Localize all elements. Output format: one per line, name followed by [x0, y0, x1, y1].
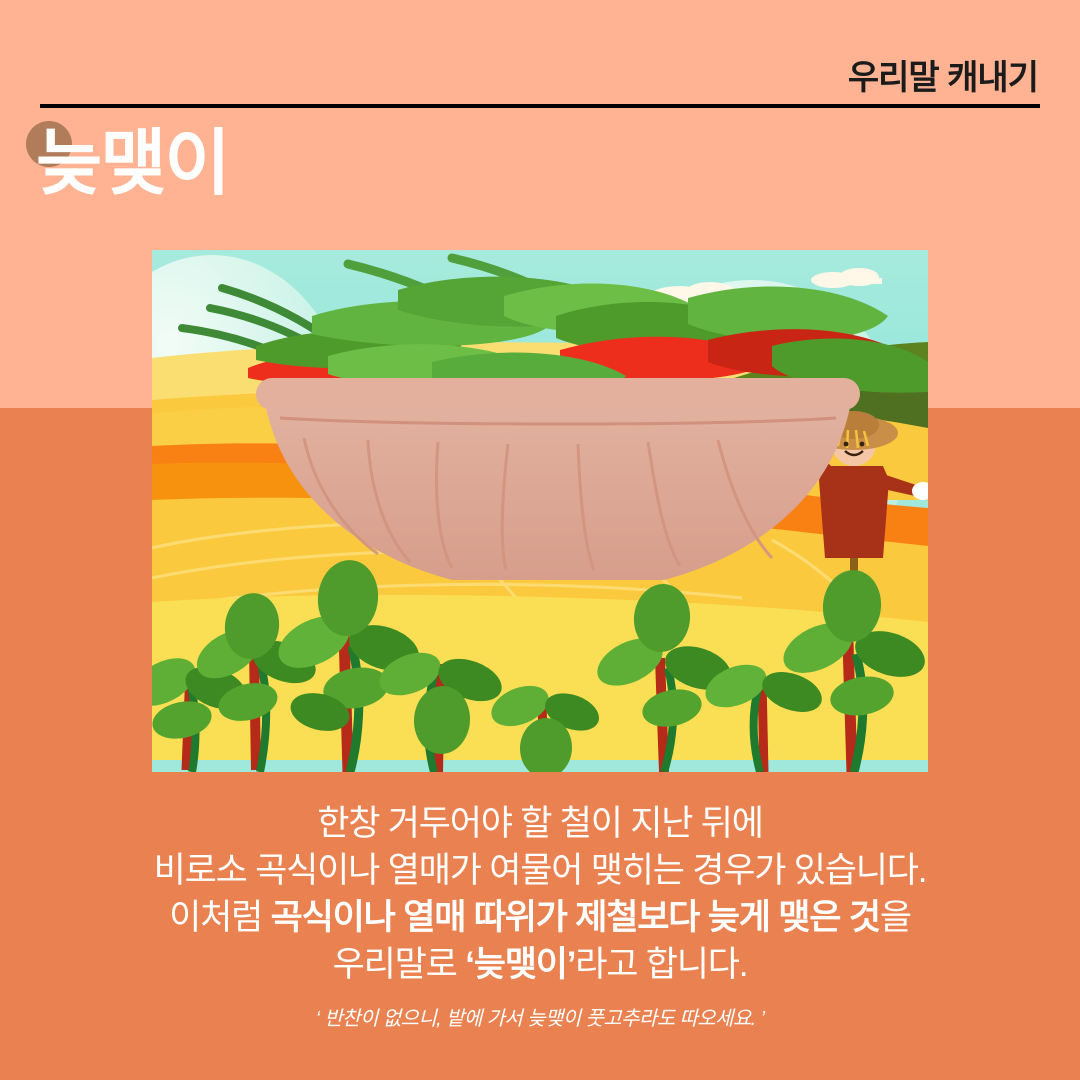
body-line-3-emphasis: 곡식이나 열매 따위가 제철보다 늦게 맺은 것: [271, 898, 880, 937]
body-line-4: 우리말로 ‘늦맺이’라고 합니다.: [0, 941, 1080, 988]
example-quote: ‘ 반찬이 없으니, 밭에 가서 늦맺이 풋고추라도 따오세요. ’: [0, 1002, 1080, 1031]
illustration-autumn-field: [152, 250, 928, 772]
bowl-rim: [256, 378, 860, 410]
body-copy: 한창 거두어야 할 철이 지난 뒤에 비로소 곡식이나 열매가 여물어 맺히는 …: [0, 800, 1080, 988]
scarecrow-shirt: [819, 466, 889, 558]
body-line-4-plain-a: 우리말로: [333, 945, 466, 984]
series-kicker: 우리말 캐내기: [848, 50, 1038, 99]
page-title: 늦맺이: [36, 128, 229, 200]
body-line-2: 비로소 곡식이나 열매가 여물어 맺히는 경우가 있습니다.: [0, 847, 1080, 894]
card-root: 우리말 캐내기 늦맺이: [0, 0, 1080, 1080]
body-line-1: 한창 거두어야 할 철이 지난 뒤에: [0, 800, 1080, 847]
body-line-3-plain-a: 이처럼: [169, 898, 271, 937]
body-line-3: 이처럼 곡식이나 열매 따위가 제철보다 늦게 맺은 것을: [0, 894, 1080, 941]
body-line-4-plain-b: 라고 합니다.: [575, 945, 747, 984]
body-line-4-keyword: ‘늦맺이’: [465, 945, 575, 984]
body-line-3-plain-b: 을: [880, 898, 911, 937]
header-divider: [40, 104, 1040, 108]
